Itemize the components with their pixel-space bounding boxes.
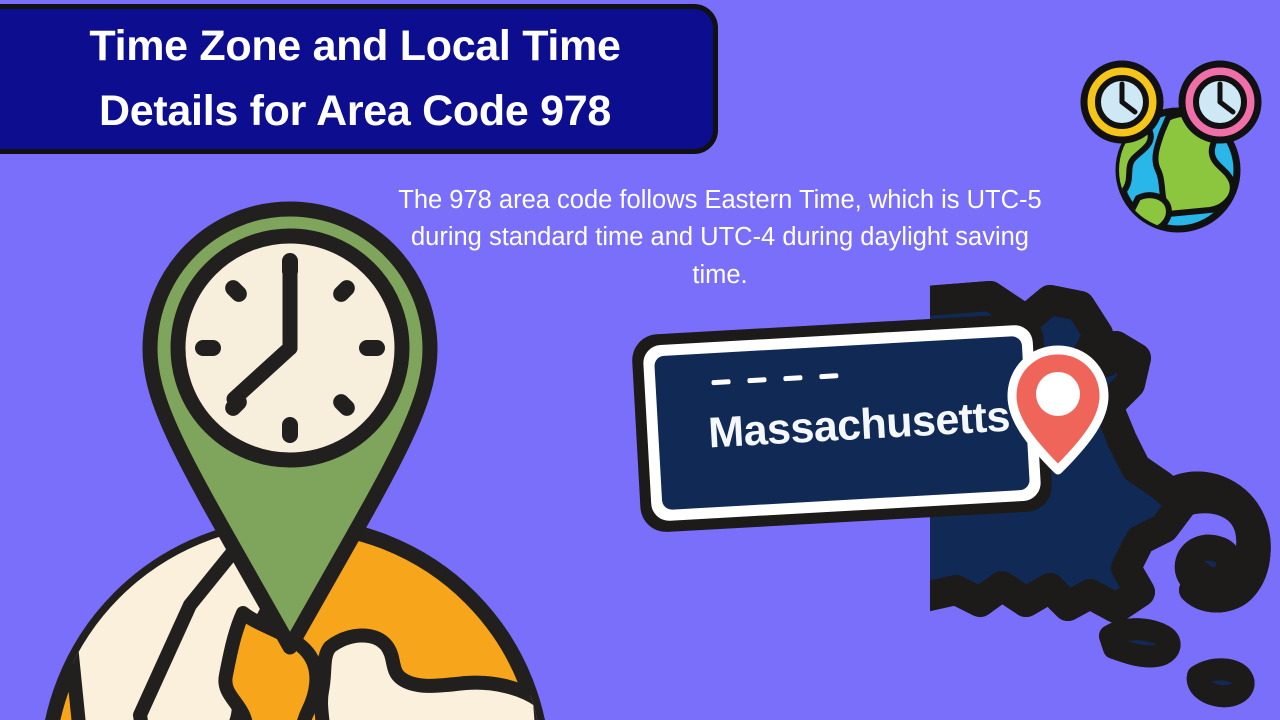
globe-with-clocks-illustration — [1072, 58, 1280, 238]
ma-cape-cod — [1178, 484, 1258, 599]
description-text: The 978 area code follows Eastern Time, … — [395, 182, 1045, 294]
title-banner: Time Zone and Local Time Details for Are… — [0, 4, 718, 154]
card-dash — [711, 379, 730, 385]
card-dash — [783, 375, 802, 381]
location-pin-svg — [1006, 344, 1110, 476]
clock-left — [1084, 64, 1160, 140]
card-dash — [819, 373, 838, 379]
card-dash — [747, 377, 766, 383]
massachusetts-label-card: Massachusetts — [631, 313, 1053, 534]
location-pin-marker — [1006, 344, 1110, 476]
clock-right — [1182, 64, 1258, 140]
card-inner-panel: Massachusetts — [654, 336, 1030, 510]
state-name-label: Massachusetts — [707, 393, 1011, 459]
card-dash-row — [711, 373, 838, 385]
infographic-canvas: Massachusetts — [0, 0, 1280, 720]
page-title: Time Zone and Local Time Details for Are… — [63, 14, 628, 145]
globe-clocks-svg — [1072, 58, 1280, 238]
ma-islands — [1110, 629, 1244, 696]
